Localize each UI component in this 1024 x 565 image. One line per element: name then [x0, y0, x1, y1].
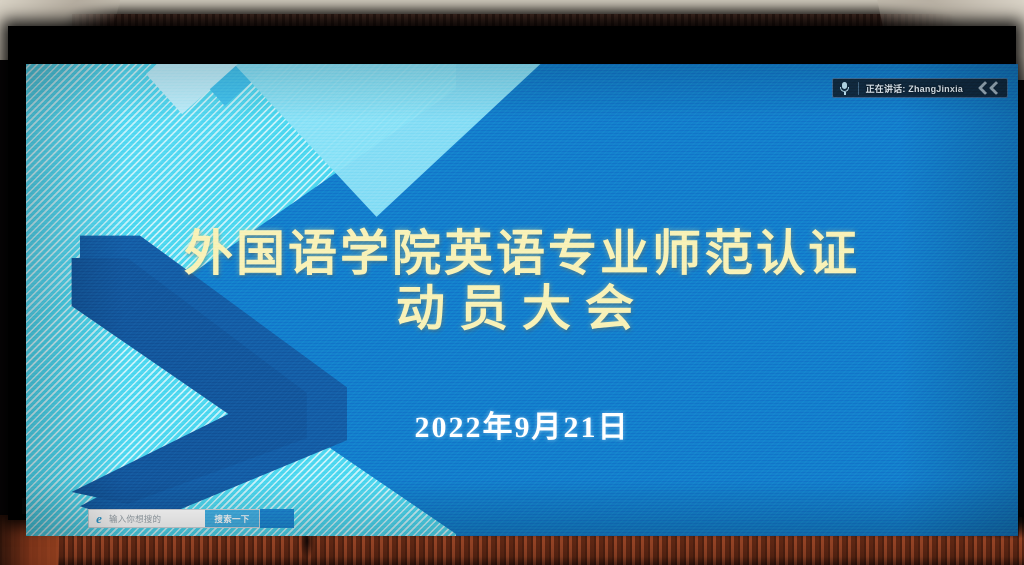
speaker-badge-label: 正在讲话: ZhangJinxia	[866, 82, 963, 95]
badge-divider	[858, 82, 859, 95]
edge-browser-icon: e	[89, 509, 109, 528]
search-button[interactable]: 搜索一下	[205, 509, 259, 528]
slide-text-group: 外国语学院英语专业师范认证 动员大会 2022年9月21日	[26, 64, 1018, 536]
browser-search-widget[interactable]: e 输入你想搜的 搜索一下	[88, 509, 260, 528]
search-input[interactable]: 输入你想搜的	[109, 513, 205, 525]
led-screen-bezel: 外国语学院英语专业师范认证 动员大会 2022年9月21日 正在讲话: Zhan…	[8, 26, 1016, 520]
led-screen-panel: 外国语学院英语专业师范认证 动员大会 2022年9月21日 正在讲话: Zhan…	[26, 64, 1018, 536]
speaker-badge[interactable]: 正在讲话: ZhangJinxia	[832, 78, 1008, 98]
double-chevron-icon[interactable]	[980, 83, 1001, 93]
slide-title-line-2: 动员大会	[26, 269, 1018, 340]
taskbar-blue-strip	[260, 509, 294, 528]
slide-date: 2022年9月21日	[26, 402, 1018, 446]
bezel-notch-top-left	[20, 32, 46, 44]
conference-room-scene: 外国语学院英语专业师范认证 动员大会 2022年9月21日 正在讲话: Zhan…	[0, 0, 1024, 565]
microphone-icon	[839, 81, 851, 95]
